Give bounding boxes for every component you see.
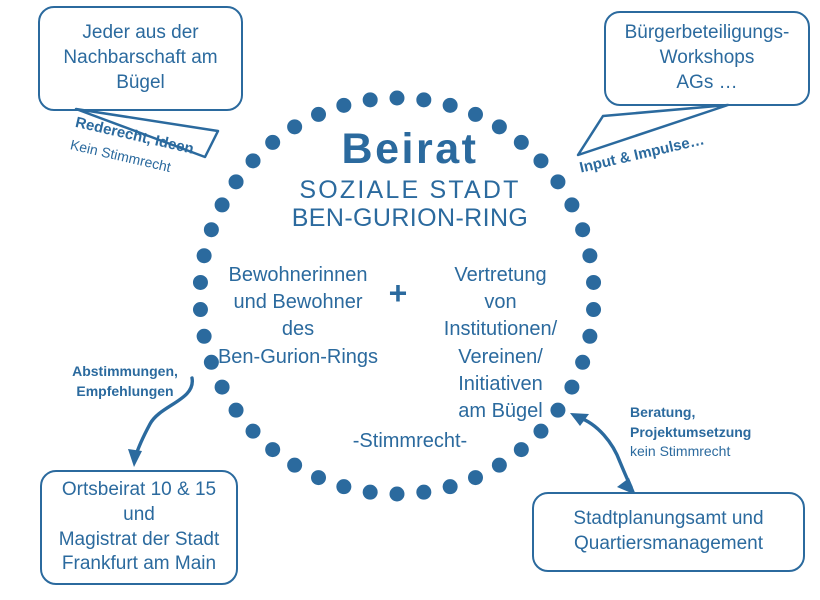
callout-participation-text: Bürgerbeteiligungs-WorkshopsAGs … <box>606 21 808 95</box>
box-stadtplanungsamt[interactable]: Stadtplanungsamt undQuartiersmanagement <box>532 492 805 572</box>
label-abstimmungen-bold: Abstimmungen,Empfehlungen <box>72 363 178 399</box>
ring-dot <box>197 248 212 263</box>
ring-dot <box>586 275 601 290</box>
members-column-institutions: VertretungvonInstitutionen/Vereinen/Init… <box>418 262 583 425</box>
ring-dot <box>287 458 302 473</box>
label-abstimmungen: Abstimmungen,Empfehlungen <box>50 361 200 402</box>
label-beratung: Beratung,Projektumsetzung kein Stimmrech… <box>630 403 805 462</box>
arrow-beratung <box>570 413 636 495</box>
ring-dot <box>443 479 458 494</box>
label-beratung-bold: Beratung,Projektumsetzung <box>630 404 751 440</box>
ring-dot <box>229 403 244 418</box>
ring-dot <box>311 107 326 122</box>
plus-icon: + <box>383 277 413 309</box>
ring-dot <box>215 380 230 395</box>
ring-dot <box>363 92 378 107</box>
ring-dot <box>416 92 431 107</box>
ring-dot <box>311 470 326 485</box>
box-ortsbeirat-text: Ortsbeirat 10 & 15undMagistrat der Stadt… <box>42 478 236 577</box>
ring-dot <box>336 479 351 494</box>
box-stadtplanung-text: Stadtplanungsamt undQuartiersmanagement <box>534 507 803 556</box>
center-subtitle-2: BEN-GURION-RING <box>0 204 820 233</box>
ring-dot <box>582 329 597 344</box>
callout-participation[interactable]: Bürgerbeteiligungs-WorkshopsAGs … <box>604 11 810 106</box>
ring-dot <box>390 91 405 106</box>
label-beratung-sub: kein Stimmrecht <box>630 442 805 462</box>
ring-dot <box>363 485 378 500</box>
callout-neighbourhood-text: Jeder aus derNachbarschaft amBügel <box>40 21 241 95</box>
callout-neighbourhood[interactable]: Jeder aus derNachbarschaft amBügel <box>38 6 243 111</box>
box-ortsbeirat-magistrat[interactable]: Ortsbeirat 10 & 15undMagistrat der Stadt… <box>40 470 238 585</box>
ring-dot <box>336 98 351 113</box>
ring-dot <box>492 458 507 473</box>
diagram-canvas: Beirat SOZIALE STADT BEN-GURION-RING Bew… <box>0 0 820 600</box>
ring-dot <box>468 107 483 122</box>
ring-dot <box>586 302 601 317</box>
ring-dot <box>443 98 458 113</box>
members-column-residents: Bewohnerinnenund BewohnerdesBen-Gurion-R… <box>198 262 398 371</box>
ring-dot <box>582 248 597 263</box>
ring-dot <box>468 470 483 485</box>
ring-dot <box>416 485 431 500</box>
ring-dot <box>390 487 405 502</box>
center-subtitle-1: SOZIALE STADT <box>0 176 820 205</box>
